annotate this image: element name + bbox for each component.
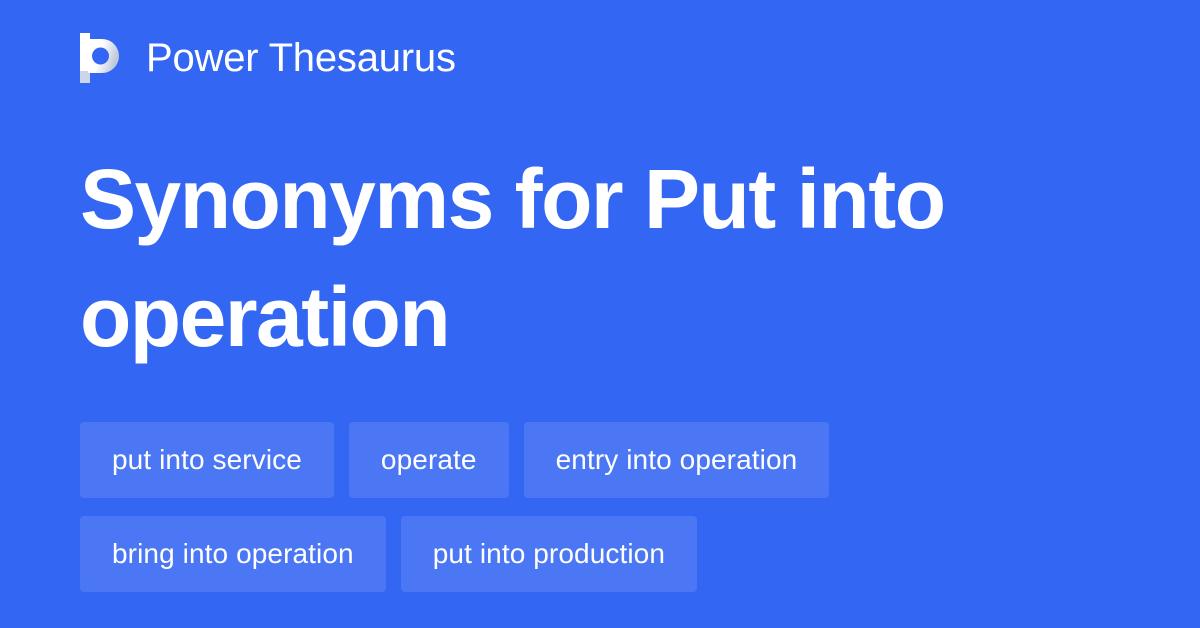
- synonym-chip-list: put into service operate entry into oper…: [80, 422, 1130, 592]
- synonym-chip[interactable]: bring into operation: [80, 516, 386, 592]
- synonym-chip-row: put into service operate entry into oper…: [80, 422, 1130, 498]
- synonym-chip[interactable]: operate: [349, 422, 509, 498]
- brand-name: power thesaurus: [146, 38, 456, 78]
- synonym-chip[interactable]: put into service: [80, 422, 334, 498]
- power-thesaurus-logo-icon: [80, 33, 124, 83]
- synonym-chip[interactable]: entry into operation: [524, 422, 830, 498]
- synonym-chip-row: bring into operation put into production: [80, 516, 1130, 592]
- brand-header[interactable]: power thesaurus: [80, 28, 456, 88]
- page-title: Synonyms for Put into operation: [80, 140, 1080, 376]
- synonym-chip[interactable]: put into production: [401, 516, 697, 592]
